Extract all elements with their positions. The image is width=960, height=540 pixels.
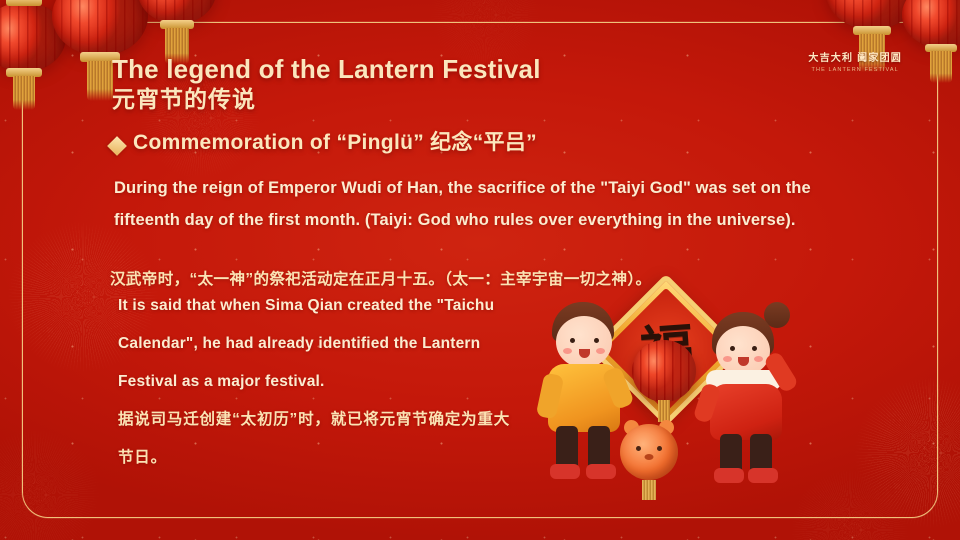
lantern-tassel (13, 76, 35, 110)
lantern-cap-top (6, 0, 42, 6)
lantern-icon (138, 0, 216, 24)
boy-eye (570, 338, 575, 343)
badge-chinese-text: 大吉大利 阖家团圆 (808, 54, 902, 64)
paragraph-chinese-secondary: 据说司马迁创建“太初历”时，就已将元宵节确定为重大节日。 (118, 401, 518, 477)
girl-cheek (754, 356, 763, 362)
girl-cheek (723, 356, 732, 362)
boy-head (556, 316, 612, 368)
children-new-year-illustration: 福 (520, 288, 820, 508)
tiger-lantern-icon (620, 424, 678, 480)
boy-eye (594, 338, 599, 343)
page-title: The legend of the Lantern Festival 元宵节的传… (112, 55, 541, 114)
girl-sweater (710, 384, 782, 440)
paragraph-secondary-block: It is said that when Sima Qian created t… (118, 287, 518, 477)
lantern-tassel (658, 400, 670, 422)
lantern-body (52, 0, 148, 56)
lantern-body (902, 0, 960, 48)
tiger-tassel (642, 480, 656, 500)
festival-badge: 大吉大利 阖家团圆 THE LANTERN FESTIVAL (808, 54, 902, 74)
red-lantern-icon (632, 340, 696, 402)
lantern-festival-slide: 大吉大利 阖家团圆 THE LANTERN FESTIVAL The legen… (0, 0, 960, 540)
paragraph-english-primary: During the reign of Emperor Wudi of Han,… (114, 172, 874, 236)
girl-head (716, 326, 770, 376)
tiger-eye (657, 446, 662, 451)
boy-cheek (596, 348, 605, 354)
boy-cheek (563, 348, 572, 354)
title-chinese: 元宵节的传说 (112, 86, 541, 114)
diamond-bullet-icon (107, 136, 127, 156)
girl-eye (752, 346, 757, 351)
boy-shoe (586, 464, 616, 479)
boy-shoe (550, 464, 580, 479)
tiger-body (620, 424, 678, 480)
badge-english-text: THE LANTERN FESTIVAL (808, 68, 902, 74)
girl-shoe (714, 468, 744, 483)
tiger-eye (636, 446, 641, 451)
section-subheading: Commemoration of “Pinglü” 纪念“平吕” (110, 130, 810, 156)
subheading-text: Commemoration of “Pinglü” 纪念“平吕” (133, 130, 537, 156)
lantern-tassel (930, 51, 952, 83)
lantern-icon (52, 0, 148, 56)
title-english: The legend of the Lantern Festival (112, 55, 541, 84)
girl-shoe (748, 468, 778, 483)
girl-eye (730, 346, 735, 351)
girl-figure (700, 306, 805, 488)
paragraph-english-secondary: It is said that when Sima Qian created t… (118, 287, 518, 401)
lantern-tassel (87, 61, 113, 101)
tiger-nose (645, 454, 654, 460)
lantern-icon (902, 0, 960, 48)
